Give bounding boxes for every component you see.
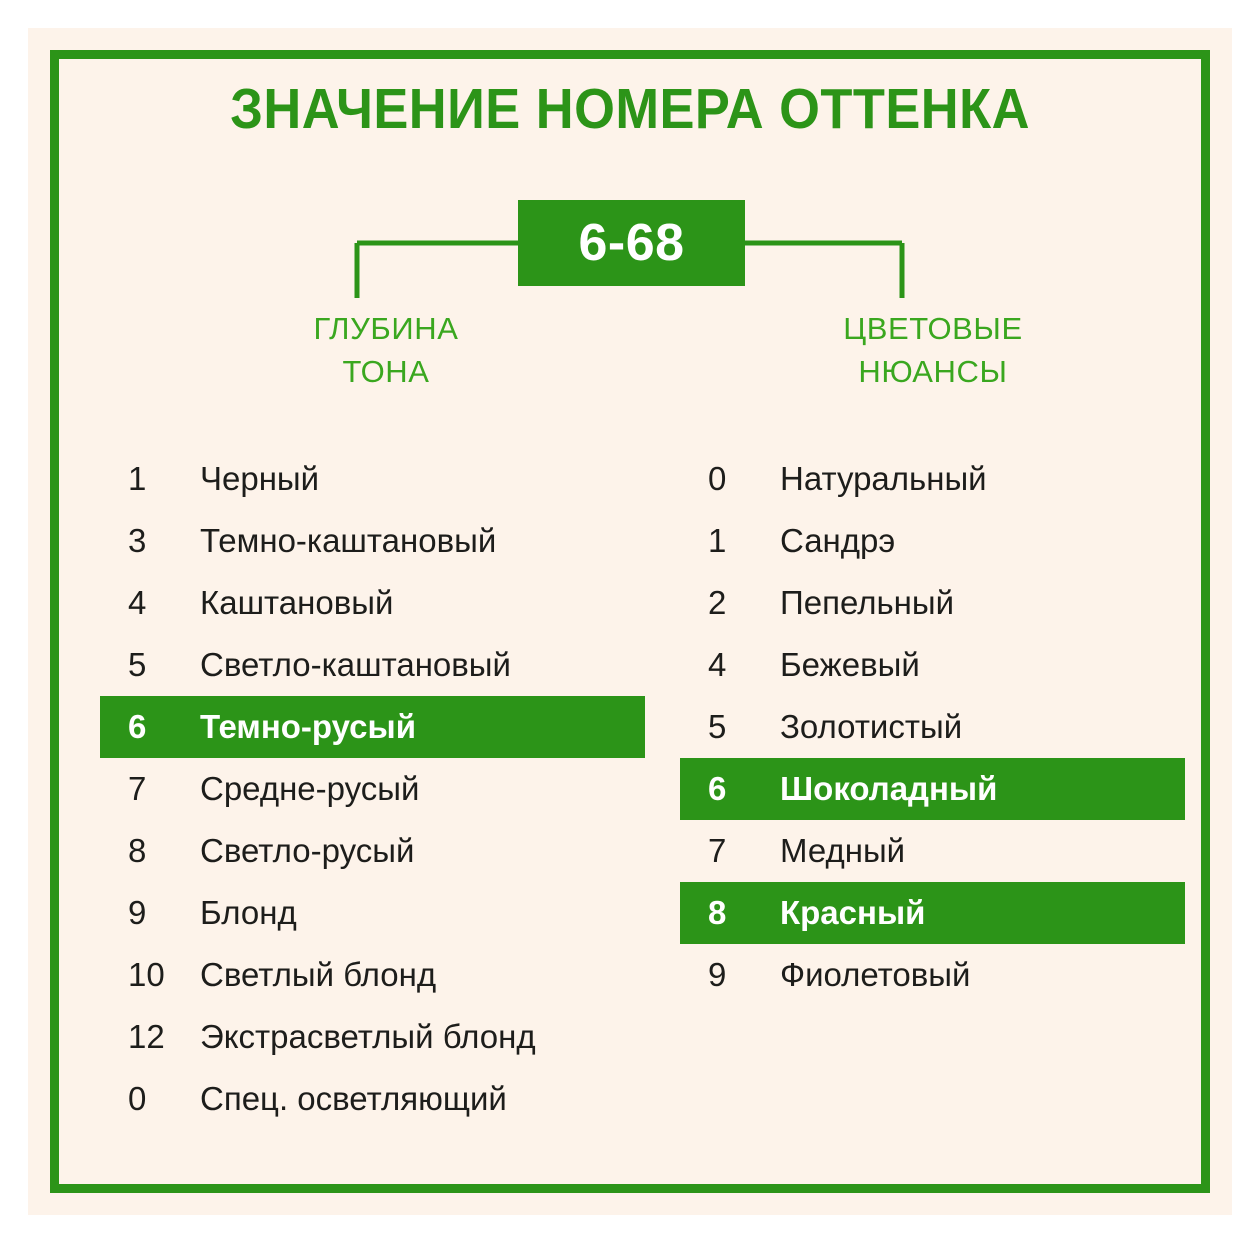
- list-item: 9Фиолетовый: [680, 944, 1185, 1006]
- list-item: 9Блонд: [100, 882, 645, 944]
- list-item: 3Темно-каштановый: [100, 510, 645, 572]
- list-item-label: Медный: [780, 832, 905, 870]
- color-nuances-list: 0Натуральный1Сандрэ2Пепельный4Бежевый5Зо…: [680, 448, 1185, 1006]
- list-item-number: 4: [708, 646, 780, 684]
- list-item-number: 4: [128, 584, 200, 622]
- list-item-label: Золотистый: [780, 708, 962, 746]
- list-item-number: 5: [708, 708, 780, 746]
- list-item-number: 9: [128, 894, 200, 932]
- list-item-label: Фиолетовый: [780, 956, 970, 994]
- list-item: 1Сандрэ: [680, 510, 1185, 572]
- list-item-label: Каштановый: [200, 584, 393, 622]
- list-item-label: Средне-русый: [200, 770, 419, 808]
- list-item-number: 2: [708, 584, 780, 622]
- list-item-label: Сандрэ: [780, 522, 895, 560]
- list-item: 5Золотистый: [680, 696, 1185, 758]
- list-item-number: 0: [708, 460, 780, 498]
- page-title: ЗНАЧЕНИЕ НОМЕРА ОТТЕНКА: [76, 76, 1184, 142]
- list-item-label: Блонд: [200, 894, 297, 932]
- infographic-poster: ЗНАЧЕНИЕ НОМЕРА ОТТЕНКА 6-68 ГЛУБИНА ТОН…: [28, 28, 1232, 1215]
- list-item-number: 10: [128, 956, 200, 994]
- list-item-number: 0: [128, 1080, 200, 1118]
- list-item: 5Светло-каштановый: [100, 634, 645, 696]
- list-item-label: Темно-каштановый: [200, 522, 496, 560]
- list-item: 2Пепельный: [680, 572, 1185, 634]
- list-item-highlighted: 8Красный: [680, 882, 1185, 944]
- list-item: 4Бежевый: [680, 634, 1185, 696]
- list-item-number: 7: [128, 770, 200, 808]
- shade-code-badge: 6-68: [518, 200, 745, 286]
- column-heading-depth: ГЛУБИНА ТОНА: [130, 308, 642, 394]
- column-heading-depth-line1: ГЛУБИНА: [130, 308, 642, 351]
- column-heading-nuances-line2: НЮАНСЫ: [680, 351, 1186, 394]
- list-item: 1Черный: [100, 448, 645, 510]
- list-item: 0Натуральный: [680, 448, 1185, 510]
- list-item: 12Экстрасветлый блонд: [100, 1006, 645, 1068]
- list-item-label: Красный: [780, 894, 925, 932]
- list-item-label: Спец. осветляющий: [200, 1080, 507, 1118]
- list-item: 7Средне-русый: [100, 758, 645, 820]
- depth-of-tone-list: 1Черный3Темно-каштановый4Каштановый5Свет…: [100, 448, 645, 1130]
- column-heading-nuances-line1: ЦВЕТОВЫЕ: [680, 308, 1186, 351]
- list-item-number: 9: [708, 956, 780, 994]
- list-item-label: Светло-каштановый: [200, 646, 511, 684]
- list-item-highlighted: 6Темно-русый: [100, 696, 645, 758]
- column-heading-depth-line2: ТОНА: [130, 351, 642, 394]
- list-item-label: Натуральный: [780, 460, 987, 498]
- list-item: 7Медный: [680, 820, 1185, 882]
- list-item-label: Темно-русый: [200, 708, 416, 746]
- list-item: 8Светло-русый: [100, 820, 645, 882]
- list-item-number: 12: [128, 1018, 200, 1056]
- list-item-label: Бежевый: [780, 646, 920, 684]
- list-item-label: Экстрасветлый блонд: [200, 1018, 536, 1056]
- list-item-label: Пепельный: [780, 584, 954, 622]
- list-item-label: Шоколадный: [780, 770, 997, 808]
- list-item: 10Светлый блонд: [100, 944, 645, 1006]
- list-item-number: 8: [708, 894, 780, 932]
- list-item-highlighted: 6Шоколадный: [680, 758, 1185, 820]
- list-item-number: 6: [708, 770, 780, 808]
- list-item-number: 3: [128, 522, 200, 560]
- list-item-number: 1: [128, 460, 200, 498]
- list-item-number: 6: [128, 708, 200, 746]
- column-heading-nuances: ЦВЕТОВЫЕ НЮАНСЫ: [680, 308, 1186, 394]
- list-item-label: Светло-русый: [200, 832, 414, 870]
- list-item-label: Черный: [200, 460, 319, 498]
- list-item-label: Светлый блонд: [200, 956, 436, 994]
- list-item-number: 8: [128, 832, 200, 870]
- list-item-number: 5: [128, 646, 200, 684]
- list-item-number: 7: [708, 832, 780, 870]
- list-item: 0Спец. осветляющий: [100, 1068, 645, 1130]
- list-item-number: 1: [708, 522, 780, 560]
- list-item: 4Каштановый: [100, 572, 645, 634]
